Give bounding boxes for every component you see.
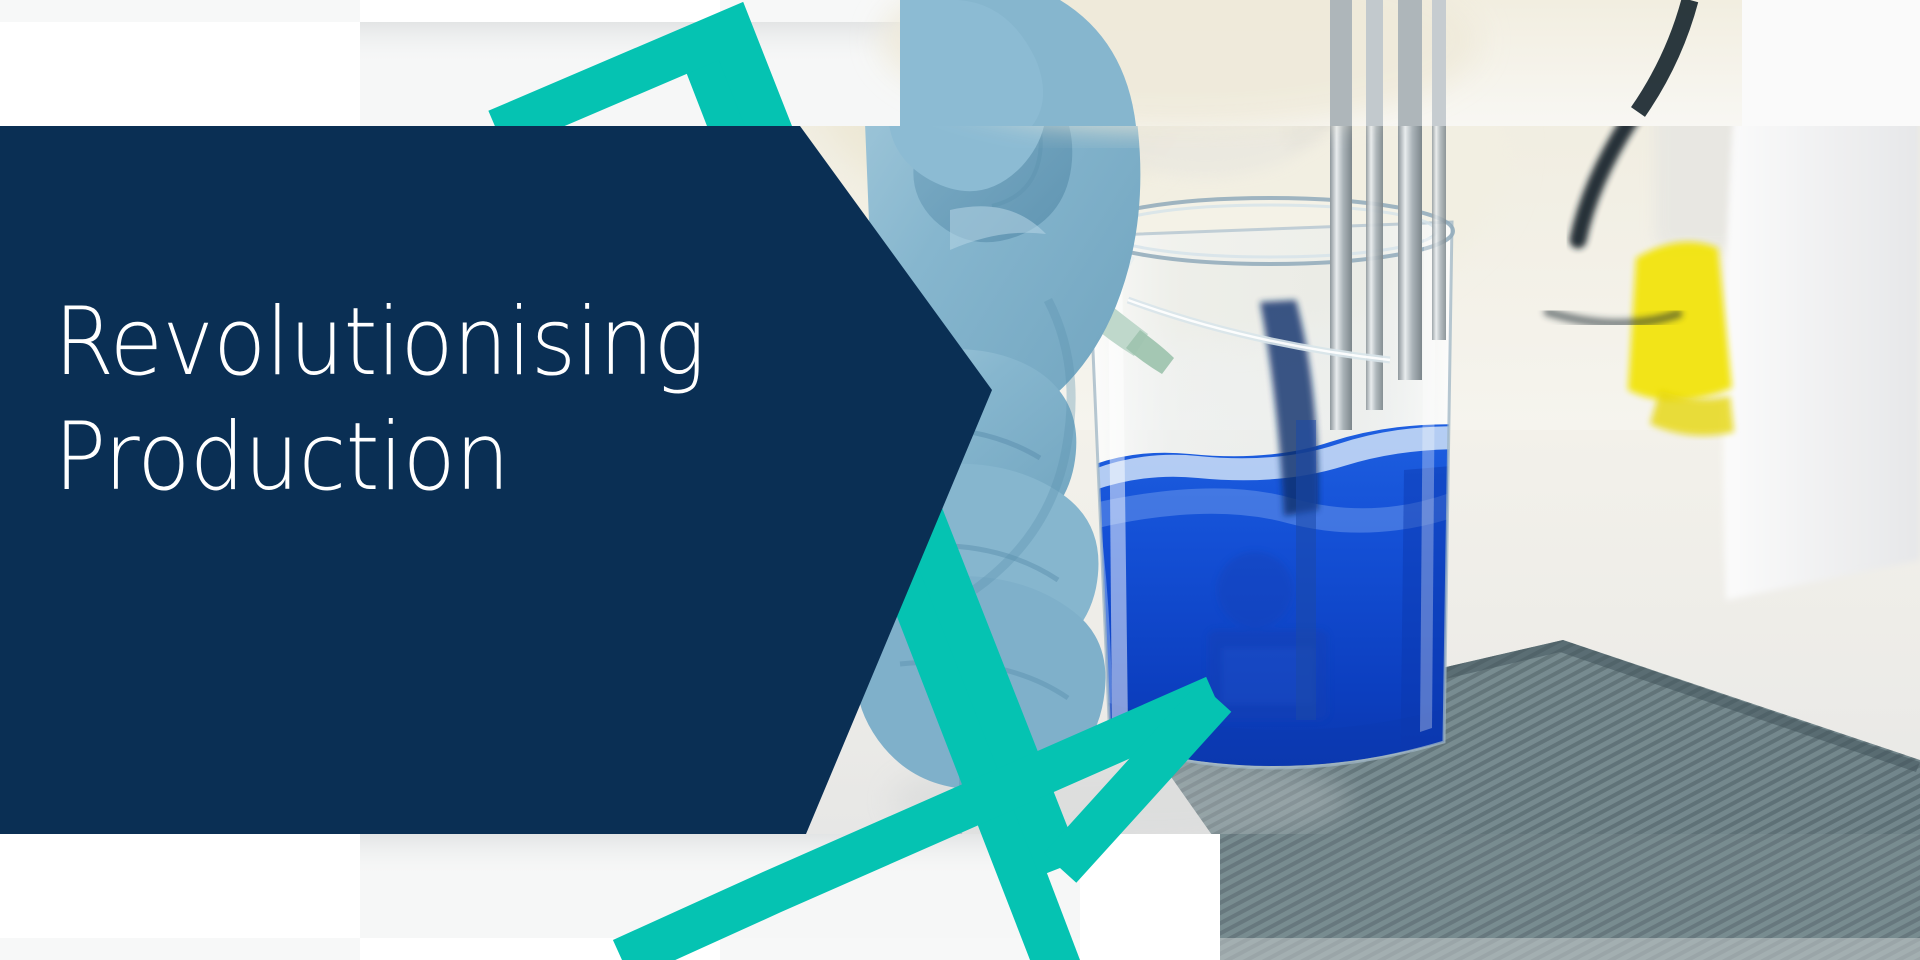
headline-line-2: Production <box>54 401 808 516</box>
hero-banner: Revolutionising Production <box>0 0 1920 960</box>
headline-line-1: Revolutionising <box>54 286 808 401</box>
page-title: Revolutionising Production <box>54 286 874 515</box>
